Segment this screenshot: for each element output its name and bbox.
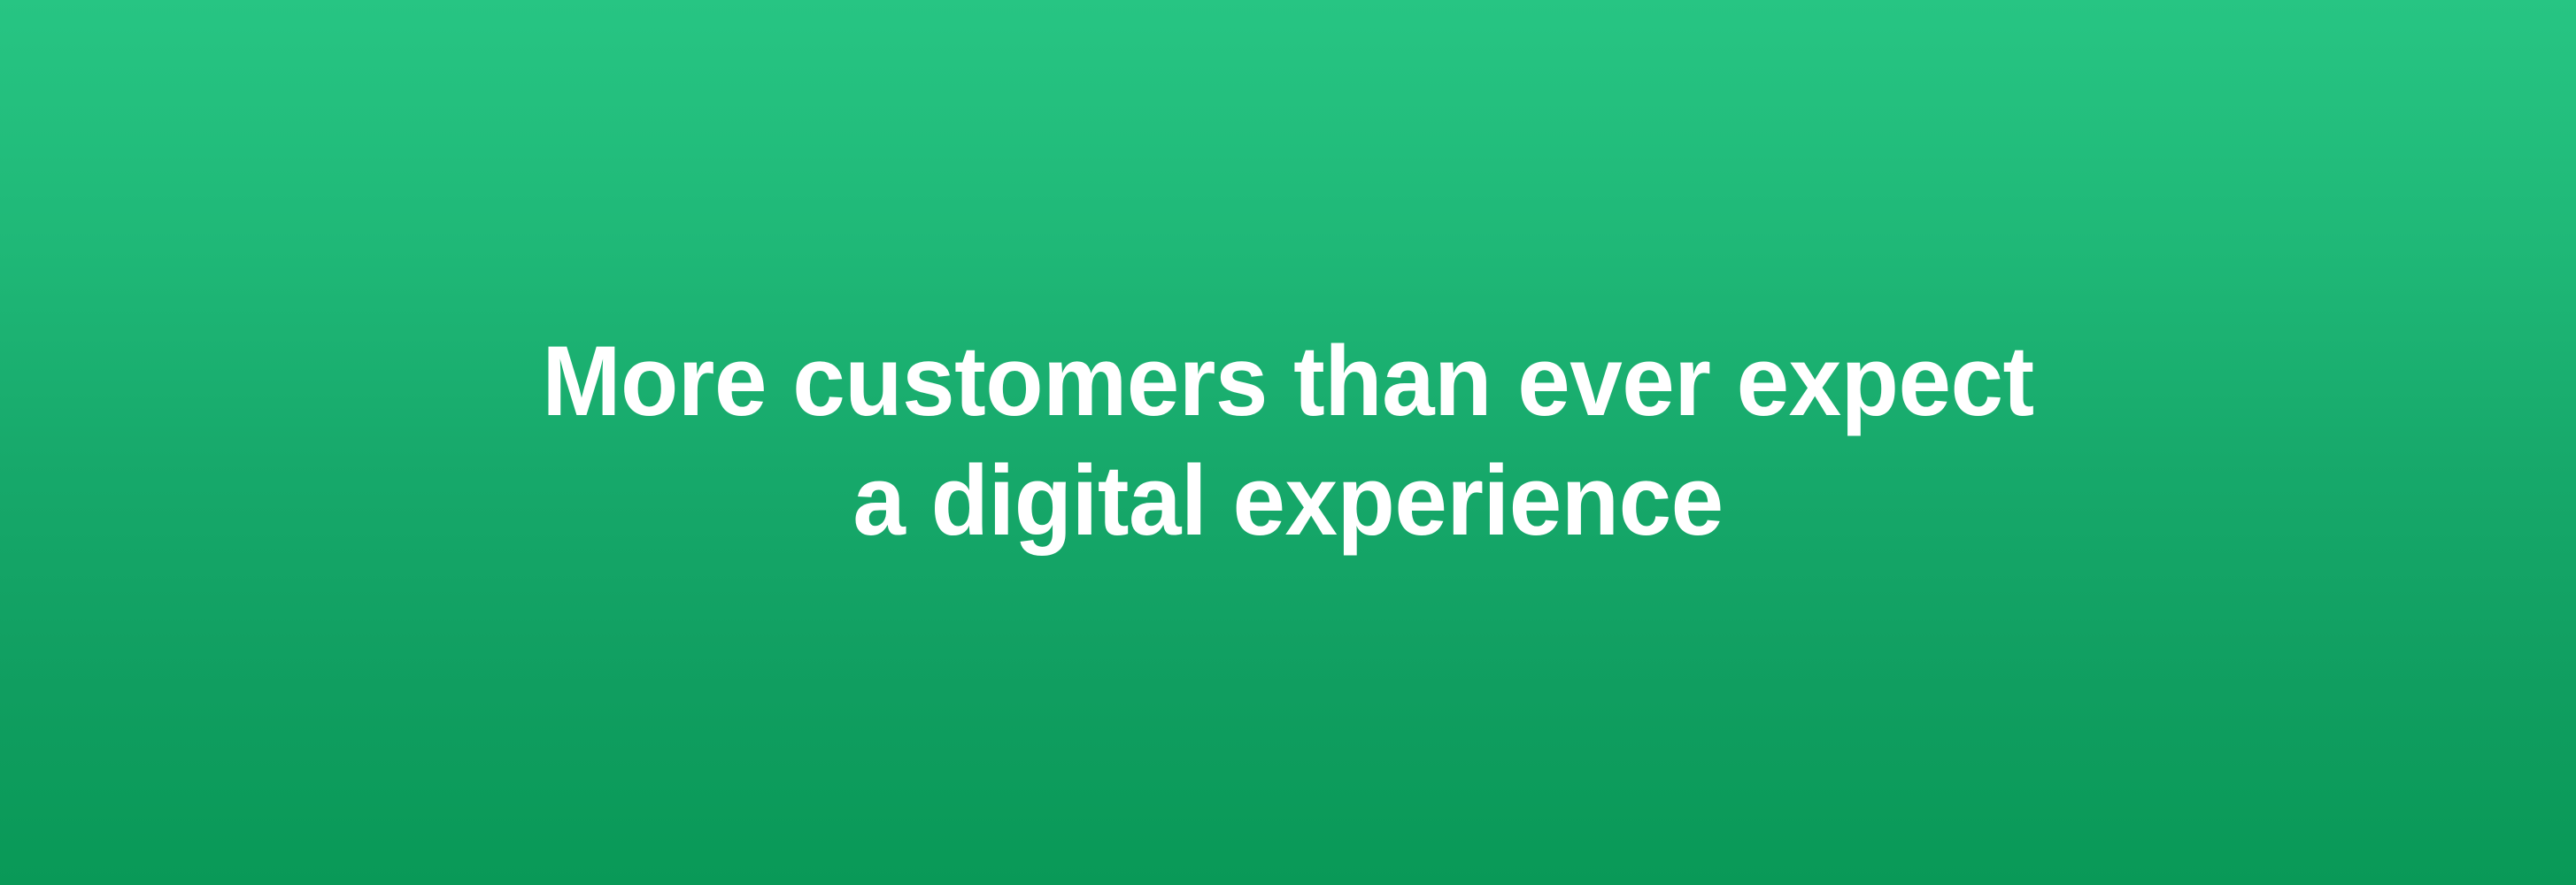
hero-headline: More customers than ever expect a digita… [92, 321, 2485, 560]
hero-banner: More customers than ever expect a digita… [0, 0, 2576, 885]
hero-headline-line-1: More customers than ever expect [92, 321, 2485, 441]
hero-headline-line-2: a digital experience [92, 441, 2485, 560]
hero-copy-block: More customers than ever expect a digita… [0, 321, 2576, 560]
screenshot-canvas: More customers than ever expect a digita… [0, 0, 2576, 885]
